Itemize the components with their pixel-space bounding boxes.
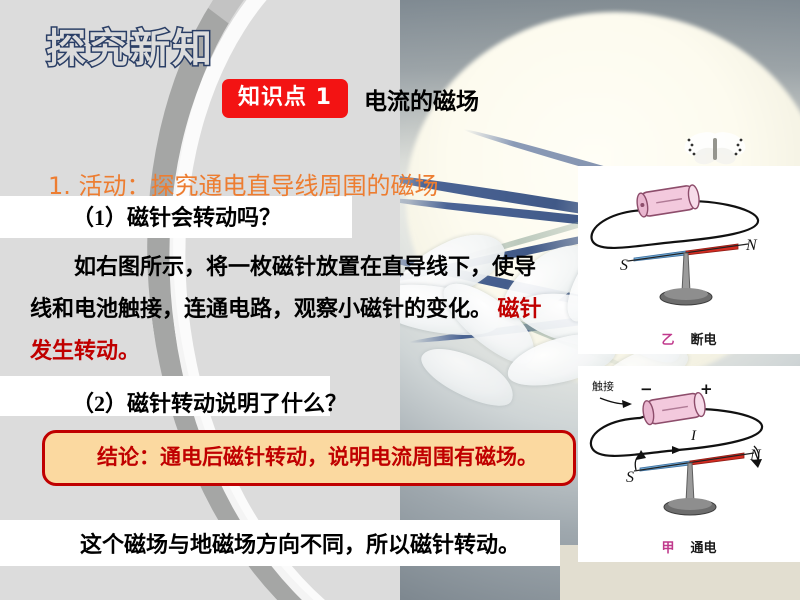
- compass-stand: [664, 463, 716, 515]
- compass-stand: [660, 253, 712, 305]
- battery-negative-label: −: [640, 380, 653, 398]
- diagram-caption-state: 断电: [691, 333, 717, 348]
- diagram-caption-letter: 甲: [661, 541, 674, 556]
- diagram-power-on-drawing: I 触接 − +: [578, 366, 800, 544]
- compass-needle: [634, 453, 754, 471]
- battery-positive-label: +: [700, 380, 713, 398]
- knowledge-point-title: 电流的磁场: [364, 82, 479, 116]
- main-paragraph-text: 如右图所示，将一枚磁针放置在直导线下，使导线和电池触接，连通电路，观察小磁针的变…: [30, 254, 536, 321]
- compass-label-north: N: [749, 447, 762, 464]
- diagram-caption-letter: 乙: [661, 333, 674, 348]
- diagram-panel-power-on: I 触接 − +: [578, 366, 800, 562]
- compass-label-south: S: [620, 257, 628, 274]
- diagram-caption-state: 通电: [691, 541, 717, 556]
- diagram-panel-power-off: S N 乙断电: [578, 166, 800, 354]
- contact-label: 触接: [592, 379, 614, 393]
- question-1: （1）磁针会转动吗？: [72, 200, 281, 232]
- conclusion-box: 结论：通电后磁针转动，说明电流周围有磁场。: [42, 430, 576, 486]
- battery-icon: [636, 184, 701, 217]
- compass-label-north: N: [745, 237, 758, 254]
- contact-arrowhead: [622, 400, 632, 408]
- question-2: （2）磁针转动说明了什么？: [72, 386, 347, 418]
- slide-canvas: 探究新知 知识点 1 电流的磁场 1. 活动：探究通电直导线周围的磁场 （1）磁…: [0, 0, 800, 600]
- diagram-caption-power-on: 甲通电: [578, 537, 800, 556]
- diagram-caption-power-off: 乙断电: [578, 329, 800, 348]
- closing-line: 这个磁场与地磁场方向不同，所以磁针转动。: [80, 527, 520, 559]
- knowledge-point-row: 知识点 1 电流的磁场: [222, 79, 479, 118]
- current-label: I: [690, 428, 697, 444]
- background-butterfly-icon: [680, 126, 750, 170]
- contact-arrow: [600, 398, 626, 404]
- compass-label-south: S: [626, 469, 634, 486]
- diagram-power-off-drawing: S N: [578, 166, 800, 336]
- page-title: 探究新知: [46, 16, 214, 74]
- main-paragraph: 如右图所示，将一枚磁针放置在直导线下，使导线和电池触接，连通电路，观察小磁针的变…: [30, 246, 550, 372]
- current-arrow: [672, 446, 682, 454]
- knowledge-point-badge: 知识点 1: [222, 79, 348, 118]
- activity-heading: 1. 活动：探究通电直导线周围的磁场: [48, 166, 439, 201]
